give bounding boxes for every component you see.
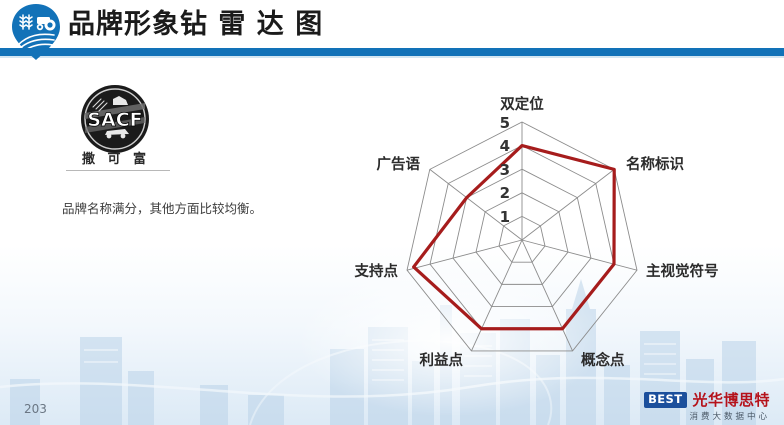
radar-axis-label-liyidian: 利益点 [420,351,464,369]
radar-tick-4: 4 [500,137,510,155]
radar-tick-labels: 5 4 3 2 1 [500,114,510,226]
description-text: 品牌名称满分，其他方面比较均衡。 [62,196,282,222]
radar-axis-label-shuangdingwei: 双定位 [500,95,544,113]
brand-name: 撒 可 富 [60,148,172,167]
radar-tick-2: 2 [500,184,510,202]
footer-logo-badge: BEST [644,392,687,408]
radar-tick-5: 5 [500,114,510,132]
radar-axis-spokes [407,122,637,351]
header-accent-shadow [0,56,784,58]
footer-logo-word: 光华博思特 [692,392,770,408]
page-number: 203 [24,402,47,416]
header-accent-rule [0,48,784,56]
radar-axis-label-zhushijuefuhao: 主视觉符号 [646,262,719,280]
radar-chart: 5 4 3 2 1 双定位 名称标识 主视觉符号 概念点 利益点 支持点 广告语 [330,70,770,380]
slide-canvas: 品牌形象钻 雷 达 图 SACF 撒 可 富 品牌名称满分，其他方面比较均衡。 [0,0,784,425]
sacf-logo-text: SACF [87,109,142,131]
footer-logo: BEST 光华博思特 消费大数据中心 [644,392,770,422]
radar-axis-label-gainiandian: 概念点 [581,351,625,369]
radar-axis-label-guanggaoyu: 广告语 [377,155,421,173]
sacf-circular-logo-icon: SACF [79,83,151,155]
page-title: 品牌形象钻 雷 达 图 [68,5,323,45]
brand-name-underline [66,170,170,171]
radar-axis-label-zhichidian: 支持点 [355,262,399,280]
radar-tick-1: 1 [500,208,510,226]
footer-logo-subtitle: 消费大数据中心 [644,410,770,422]
slide-header: 品牌形象钻 雷 达 图 [0,0,784,58]
radar-axis-label-mingchengbiaoshi: 名称标识 [626,155,684,173]
radar-tick-3: 3 [500,161,510,179]
